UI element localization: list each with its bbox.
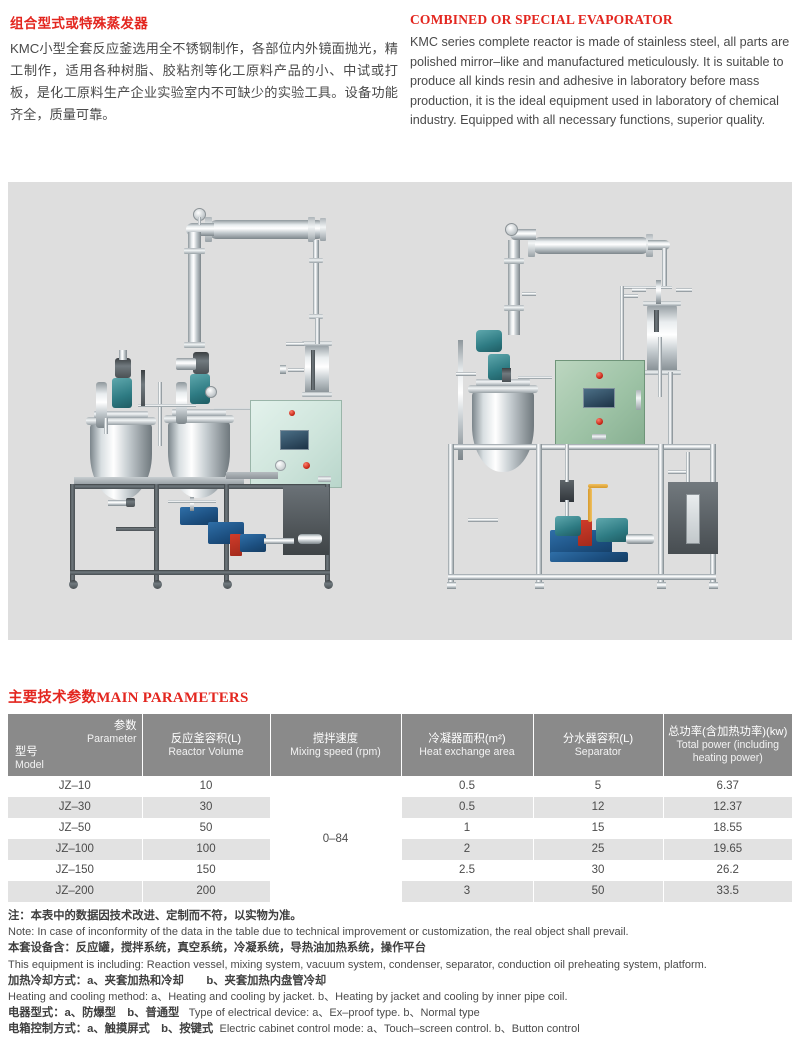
column-header-reactor-volume: 反应釜容积(L) Reactor Volume	[142, 714, 270, 776]
cell-separator: 25	[533, 839, 663, 860]
parameters-table-wrapper: 参数 Parameter 型号 Model 反应釜容积(L) Reactor V…	[8, 714, 792, 902]
cell-model: JZ–10	[8, 776, 142, 797]
note-2-cn: 本套设备含：反应罐，搅拌系统，真空系统，冷凝系统，导热油加热系统，操作平台	[8, 940, 794, 956]
note-4-cn: 电器型式：a、防爆型 b、普通型	[8, 1007, 179, 1019]
column-header-mixing-speed: 搅拌速度 Mixing speed (rpm)	[270, 714, 401, 776]
cell-separator: 12	[533, 797, 663, 818]
product-photo-left	[8, 182, 400, 640]
cell-separator: 30	[533, 860, 663, 881]
corner-model-label: 型号 Model	[15, 745, 44, 772]
cell-heat-area: 2.5	[401, 860, 533, 881]
corner-model-cn: 型号	[15, 745, 44, 759]
column-header-mixing-speed-cn: 搅拌速度	[273, 732, 399, 746]
note-5: 电箱控制方式：a、触摸屏式 b、按键式 Electric cabinet con…	[8, 1021, 794, 1037]
column-header-separator-cn: 分水器容积(L)	[536, 732, 661, 746]
note-3-cn-text: 加热冷却方式：a、夹套加热和冷却 b、夹套加热内盘管冷却	[8, 975, 326, 987]
note-3-cn: 加热冷却方式：a、夹套加热和冷却 b、夹套加热内盘管冷却	[8, 973, 794, 989]
cell-model: JZ–100	[8, 839, 142, 860]
note-1-cn: 注：本表中的数据因技术改进、定制而不符，以实物为准。	[8, 908, 794, 924]
cell-volume: 30	[142, 797, 270, 818]
corner-parameter-en: Parameter	[87, 733, 136, 746]
note-5-en: Electric cabinet control mode: a、Touch–s…	[220, 1023, 580, 1035]
corner-model-en: Model	[15, 759, 44, 772]
note-1-en: Note: In case of inconformity of the dat…	[8, 924, 794, 940]
cell-volume: 50	[142, 818, 270, 839]
cell-model: JZ–150	[8, 860, 142, 881]
cell-power: 6.37	[663, 776, 792, 797]
column-header-total-power-cn: 总功率(含加热功率)(kw)	[666, 725, 791, 739]
column-header-separator-en: Separator	[536, 746, 661, 759]
chinese-title: 组合型式或特殊蒸发器	[10, 12, 398, 32]
table-row: JZ–10 10 0–84 0.5 5 6.37	[8, 776, 792, 797]
note-4: 电器型式：a、防爆型 b、普通型 Type of electrical devi…	[8, 1005, 794, 1021]
cell-power: 12.37	[663, 797, 792, 818]
corner-parameter-cn: 参数	[87, 719, 136, 733]
column-header-total-power: 总功率(含加热功率)(kw) Total power (including he…	[663, 714, 792, 776]
corner-parameter-label: 参数 Parameter	[87, 719, 136, 746]
product-photo-panel	[8, 182, 792, 640]
cell-mixing-speed-merged: 0–84	[270, 776, 401, 902]
column-header-reactor-volume-en: Reactor Volume	[145, 746, 268, 759]
note-5-cn: 电箱控制方式：a、触摸屏式 b、按键式	[8, 1023, 213, 1035]
cell-heat-area: 0.5	[401, 797, 533, 818]
cell-separator: 50	[533, 881, 663, 902]
note-4-en: Type of electrical device: a、Ex–proof ty…	[189, 1007, 480, 1019]
column-header-heat-exchange-area-cn: 冷凝器面积(m²)	[404, 732, 531, 746]
cell-model: JZ–50	[8, 818, 142, 839]
cell-volume: 150	[142, 860, 270, 881]
cell-power: 33.5	[663, 881, 792, 902]
main-parameters-heading-cn: 主要技术参数	[8, 690, 96, 706]
cell-heat-area: 1	[401, 818, 533, 839]
cell-volume: 10	[142, 776, 270, 797]
table-header-row: 参数 Parameter 型号 Model 反应釜容积(L) Reactor V…	[8, 714, 792, 776]
main-parameters-heading: 主要技术参数MAIN PARAMETERS	[8, 686, 249, 707]
parameters-table-body: JZ–10 10 0–84 0.5 5 6.37 JZ–30 30 0.5 12…	[8, 776, 792, 902]
cell-power: 19.65	[663, 839, 792, 860]
cell-separator: 5	[533, 776, 663, 797]
intro-chinese-column: 组合型式或特殊蒸发器 KMC小型全套反应釜选用全不锈钢制作，各部位内外镜面抛光，…	[8, 10, 398, 131]
cell-volume: 200	[142, 881, 270, 902]
intro-section: 组合型式或特殊蒸发器 KMC小型全套反应釜选用全不锈钢制作，各部位内外镜面抛光，…	[0, 0, 800, 131]
cell-separator: 15	[533, 818, 663, 839]
column-header-separator: 分水器容积(L) Separator	[533, 714, 663, 776]
column-header-reactor-volume-cn: 反应釜容积(L)	[145, 732, 268, 746]
cell-heat-area: 0.5	[401, 776, 533, 797]
english-title: COMBINED OR SPECIAL EVAPORATOR	[410, 12, 792, 28]
cell-volume: 100	[142, 839, 270, 860]
intro-english-column: COMBINED OR SPECIAL EVAPORATOR KMC serie…	[408, 10, 792, 131]
cell-heat-area: 3	[401, 881, 533, 902]
column-header-total-power-en: Total power (including heating power)	[666, 739, 791, 765]
cell-power: 18.55	[663, 818, 792, 839]
column-header-heat-exchange-area: 冷凝器面积(m²) Heat exchange area	[401, 714, 533, 776]
english-description: KMC series complete reactor is made of s…	[410, 33, 792, 131]
parameters-table: 参数 Parameter 型号 Model 反应釜容积(L) Reactor V…	[8, 714, 792, 902]
cell-power: 26.2	[663, 860, 792, 881]
note-3-en: Heating and cooling method: a、Heating an…	[8, 989, 794, 1005]
cell-heat-area: 2	[401, 839, 533, 860]
product-photo-right	[400, 182, 792, 640]
column-header-heat-exchange-area-en: Heat exchange area	[404, 746, 531, 759]
cell-model: JZ–30	[8, 797, 142, 818]
table-corner-cell: 参数 Parameter 型号 Model	[8, 714, 142, 776]
main-parameters-heading-en: MAIN PARAMETERS	[96, 690, 248, 706]
chinese-description: KMC小型全套反应釜选用全不锈钢制作，各部位内外镜面抛光，精工制作，适用各种树脂…	[10, 38, 398, 126]
cell-model: JZ–200	[8, 881, 142, 902]
note-2-en: This equipment is including: Reaction ve…	[8, 957, 794, 973]
column-header-mixing-speed-en: Mixing speed (rpm)	[273, 746, 399, 759]
footnotes: 注：本表中的数据因技术改进、定制而不符，以实物为准。 Note: In case…	[8, 908, 794, 1038]
